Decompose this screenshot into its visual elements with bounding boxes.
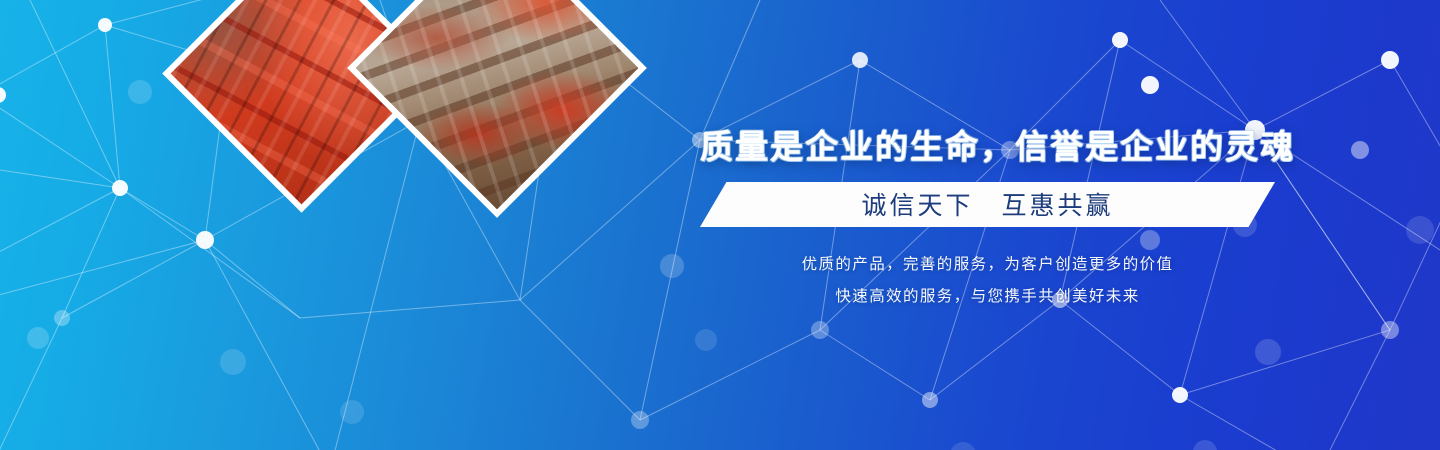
banner-subtitle-line-1: 优质的产品，完善的服务，为客户创造更多的价值	[700, 249, 1275, 281]
banner-subtitle-line-2: 快速高效的服务，与您携手共创美好未来	[700, 281, 1275, 313]
promotional-banner: 质量是企业的生命，信誉是企业的灵魂 诚信天下 互惠共赢 优质的产品，完善的服务，…	[0, 0, 1440, 450]
slogan-ribbon: 诚信天下 互惠共赢	[700, 182, 1275, 227]
banner-subtitles: 优质的产品，完善的服务，为客户创造更多的价值 快速高效的服务，与您携手共创美好未…	[700, 249, 1275, 313]
diamond-photo-pallets	[347, 0, 647, 218]
photo-frame-2	[356, 0, 639, 209]
banner-copy-block: 质量是企业的生命，信誉是企业的灵魂 诚信天下 互惠共赢 优质的产品，完善的服务，…	[700, 128, 1275, 312]
product-image-pallets	[356, 0, 639, 209]
banner-headline: 质量是企业的生命，信誉是企业的灵魂	[700, 128, 1275, 166]
slogan-ribbon-text: 诚信天下 互惠共赢	[861, 186, 1113, 222]
